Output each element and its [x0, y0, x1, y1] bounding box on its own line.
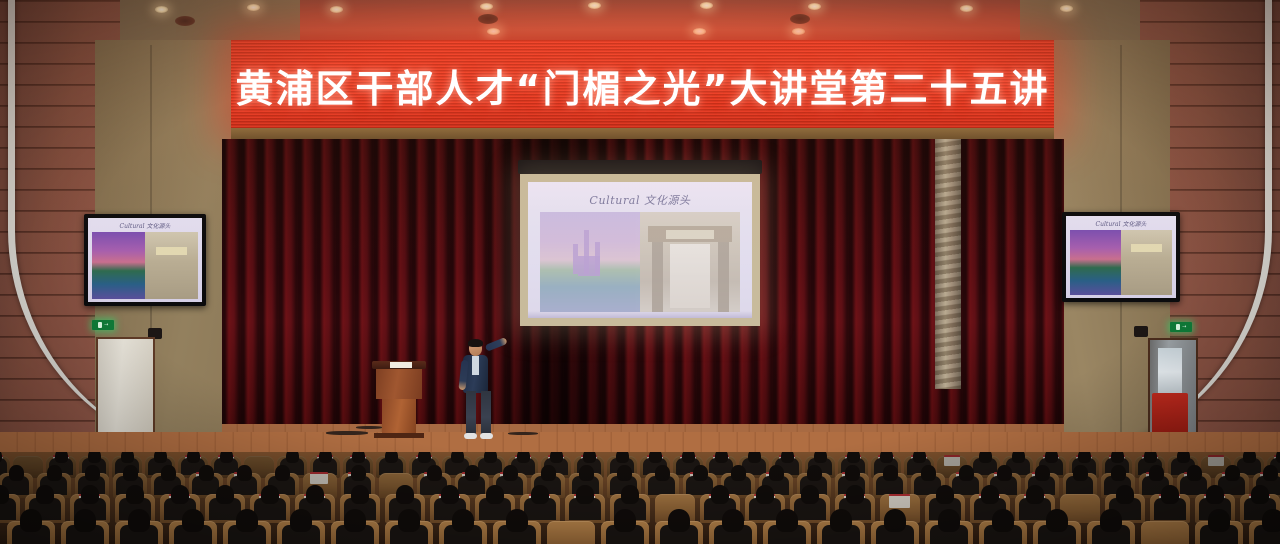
- audience-member-head: [171, 485, 189, 504]
- audience-member-head: [1073, 465, 1088, 481]
- audience-member-head: [220, 452, 233, 463]
- audience-member-head: [418, 452, 431, 463]
- audience-member-head: [182, 509, 204, 532]
- audience-member-head: [506, 509, 528, 532]
- audience-member-head: [1149, 465, 1164, 481]
- ceiling-vent-icon: [790, 14, 810, 24]
- audience-member-head: [517, 452, 530, 463]
- presenter-leg: [466, 391, 476, 435]
- audience-member-head: [123, 465, 138, 481]
- audience-member-head: [576, 485, 594, 504]
- floor-cable: [356, 426, 382, 429]
- audience-member-head: [452, 509, 474, 532]
- audience-member-head: [1263, 465, 1278, 481]
- audience-member-head: [1111, 452, 1124, 463]
- audience-member-head: [385, 452, 398, 463]
- audience-member-head: [465, 465, 480, 481]
- audience-member-head: [830, 509, 852, 532]
- audience-member-head: [1116, 485, 1134, 504]
- audience-member-head: [352, 452, 365, 463]
- seat-name-card: [889, 494, 910, 508]
- downlight-icon: [792, 28, 805, 35]
- audience-member-head: [484, 452, 497, 463]
- audience-member-head: [1100, 509, 1122, 532]
- audience-member-head: [441, 485, 459, 504]
- monitor-right-title: Cultural 文化源头: [1066, 219, 1176, 228]
- presenter-leg: [481, 391, 491, 435]
- audience-member-head: [187, 452, 200, 463]
- audience-member-head: [668, 509, 690, 532]
- audience-member-head: [883, 465, 898, 481]
- audience-member-head: [81, 485, 99, 504]
- audience-member-head: [1276, 452, 1280, 463]
- audience-member-head: [128, 509, 150, 532]
- downlight-icon: [960, 5, 973, 12]
- audience-member-head: [614, 509, 636, 532]
- audience-seat: [547, 521, 595, 544]
- slide-content: Cultural 文化源头: [528, 182, 752, 318]
- audience-member-head: [74, 509, 96, 532]
- audience-member-head: [47, 465, 62, 481]
- audience-member-head: [693, 465, 708, 481]
- auditorium-photo: 黄浦区干部人才“门楣之光”大讲堂第二十五讲 Cultural 文化源头: [0, 0, 1280, 544]
- audience-member-head: [503, 465, 518, 481]
- audience-member-head: [1161, 485, 1179, 504]
- audience-member-head: [121, 452, 134, 463]
- seat-name-card: [944, 455, 960, 466]
- audience-member-head: [913, 452, 926, 463]
- audience-member-head: [1187, 465, 1202, 481]
- audience-member-head: [319, 452, 332, 463]
- presenter-shoe: [480, 433, 493, 439]
- led-banner-text: 黄浦区干部人才“门楣之光”大讲堂第二十五讲: [236, 58, 1050, 113]
- audience-member-head: [1078, 452, 1091, 463]
- wall-speaker-icon: [1134, 326, 1148, 337]
- audience-member-head: [261, 485, 279, 504]
- exit-sign-right: →: [1170, 322, 1192, 332]
- audience-member-head: [583, 452, 596, 463]
- audience-member-head: [126, 485, 144, 504]
- audience-member-head: [682, 452, 695, 463]
- side-monitor-left: Cultural 文化源头: [84, 214, 206, 306]
- audience-member-head: [1251, 485, 1269, 504]
- audience-member-head: [731, 465, 746, 481]
- seat-name-card: [1208, 455, 1224, 466]
- seat-name-card: [310, 472, 328, 484]
- audience-member-head: [199, 465, 214, 481]
- audience-member-head: [655, 465, 670, 481]
- led-banner-frame: 黄浦区干部人才“门楣之光”大讲堂第二十五讲: [231, 40, 1054, 130]
- audience-member-head: [748, 452, 761, 463]
- audience-member-head: [997, 465, 1012, 481]
- audience-member-head: [981, 485, 999, 504]
- downlight-icon: [247, 4, 260, 11]
- audience-member-head: [1026, 485, 1044, 504]
- audience-member-head: [847, 452, 860, 463]
- screen-valance: [518, 160, 762, 174]
- led-banner: 黄浦区干部人才“门楣之光”大讲堂第二十五讲: [231, 40, 1054, 130]
- slide-reflection: [528, 311, 752, 318]
- downlight-icon: [693, 28, 706, 35]
- audience-member-head: [1035, 465, 1050, 481]
- audience-member-head: [756, 485, 774, 504]
- projection-screen: Cultural 文化源头: [520, 174, 760, 326]
- ceiling-vent-icon: [478, 14, 498, 24]
- audience-member-head: [807, 465, 822, 481]
- audience-member-head: [884, 509, 906, 532]
- audience-seat: [1141, 521, 1189, 544]
- audience-member-head: [1225, 465, 1240, 481]
- curtain-gap-wall: [935, 139, 961, 389]
- audience-member-head: [36, 485, 54, 504]
- monitor-left-title: Cultural 文化源头: [88, 221, 202, 230]
- audience-member-head: [1012, 452, 1025, 463]
- audience-member-head: [351, 465, 366, 481]
- audience-member-head: [286, 452, 299, 463]
- audience-member-head: [427, 465, 442, 481]
- audience-member-head: [1045, 452, 1058, 463]
- audience-member-head: [711, 485, 729, 504]
- downlight-icon: [808, 3, 821, 10]
- audience-member-head: [776, 509, 798, 532]
- audience-member-head: [992, 509, 1014, 532]
- audience-member-head: [814, 452, 827, 463]
- audience-member-head: [1262, 509, 1280, 532]
- audience-member-head: [1177, 452, 1190, 463]
- audience-member-head: [541, 465, 556, 481]
- lectern-base: [382, 399, 416, 435]
- audience-member-head: [1208, 509, 1230, 532]
- downlight-icon: [330, 6, 343, 13]
- audience-member-head: [161, 465, 176, 481]
- audience-member-head: [237, 465, 252, 481]
- audience-member-head: [55, 452, 68, 463]
- presenter-shoe: [464, 433, 477, 439]
- audience-member-head: [9, 465, 24, 481]
- audience-member-head: [236, 509, 258, 532]
- lectern-foot: [374, 433, 424, 438]
- audience-member-head: [715, 452, 728, 463]
- audience-member-head: [880, 452, 893, 463]
- audience-member-head: [616, 452, 629, 463]
- slide-images: [540, 212, 740, 312]
- audience-member-head: [351, 485, 369, 504]
- audience-member-head: [85, 465, 100, 481]
- downlight-icon: [480, 3, 493, 10]
- audience-member-head: [88, 452, 101, 463]
- exit-arrow-icon: →: [104, 322, 108, 328]
- floor-cable: [326, 431, 368, 435]
- audience-member-head: [781, 452, 794, 463]
- audience-member-head: [936, 485, 954, 504]
- audience-member-head: [531, 485, 549, 504]
- audience-member-head: [801, 485, 819, 504]
- slide-castle-image: [540, 212, 640, 312]
- exit-sign-left: →: [92, 320, 114, 330]
- presenter-hair: [468, 339, 483, 347]
- audience-member-head: [290, 509, 312, 532]
- audience-member-head: [617, 465, 632, 481]
- audience-member-head: [938, 509, 960, 532]
- audience-member-head: [154, 452, 167, 463]
- lectern-nameplate: [390, 362, 412, 368]
- audience-member-head: [921, 465, 936, 481]
- audience-member-head: [451, 452, 464, 463]
- audience-member-head: [621, 485, 639, 504]
- slide-gateway-image: [640, 212, 740, 312]
- audience-member-head: [846, 485, 864, 504]
- presenter-shirt: [472, 356, 479, 375]
- audience-member-head: [845, 465, 860, 481]
- audience-member-head: [959, 465, 974, 481]
- audience-seating: [0, 452, 1280, 544]
- led-banner-base: [231, 128, 1054, 139]
- audience-member-head: [1144, 452, 1157, 463]
- audience-member-head: [344, 509, 366, 532]
- audience-member-head: [1111, 465, 1126, 481]
- audience-member-head: [20, 509, 42, 532]
- downlight-icon: [700, 2, 713, 9]
- red-equipment-case: [1152, 393, 1188, 435]
- lectern-body: [376, 369, 422, 399]
- audience-member-head: [1046, 509, 1068, 532]
- slide-title: Cultural 文化源头: [528, 192, 752, 208]
- audience-member-head: [486, 485, 504, 504]
- exit-door-left: [96, 337, 155, 446]
- audience-member-head: [722, 509, 744, 532]
- audience-member-head: [1243, 452, 1256, 463]
- audience-member-head: [398, 509, 420, 532]
- audience-member-head: [769, 465, 784, 481]
- downlight-icon: [487, 28, 500, 35]
- floor-cable: [508, 432, 538, 435]
- audience-member-head: [216, 485, 234, 504]
- side-monitor-right: Cultural 文化源头: [1062, 212, 1180, 302]
- audience-member-head: [579, 465, 594, 481]
- audience-member-head: [649, 452, 662, 463]
- audience-member-head: [1206, 485, 1224, 504]
- audience-member-head: [550, 452, 563, 463]
- audience-member-head: [306, 485, 324, 504]
- audience-member-head: [979, 452, 992, 463]
- audience-member-head: [396, 485, 414, 504]
- downlight-icon: [588, 2, 601, 9]
- exit-arrow-icon: →: [1182, 324, 1186, 330]
- audience-member-head: [275, 465, 290, 481]
